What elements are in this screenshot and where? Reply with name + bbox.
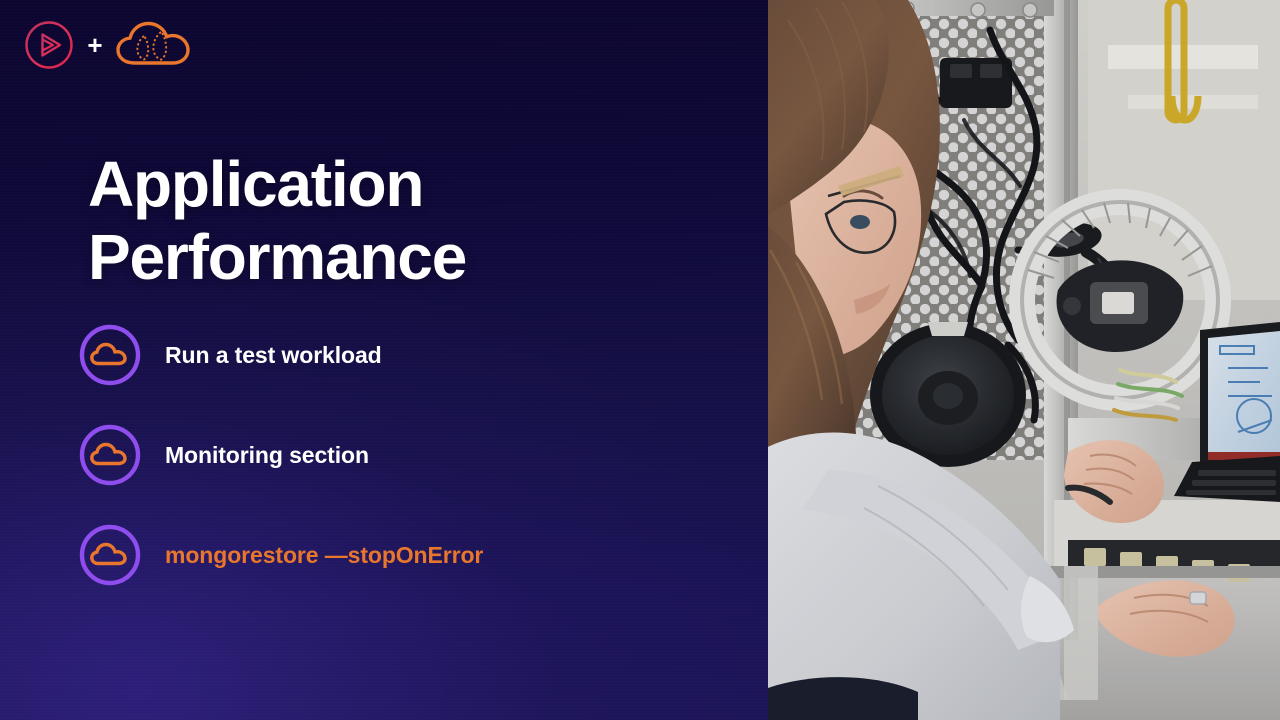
- percona-play-mark-icon: [22, 18, 76, 72]
- page-title-line-1: Application: [88, 148, 648, 221]
- slide-content-panel: + Application Performance: [0, 0, 768, 720]
- engineer-at-test-bench-photo: [768, 0, 1280, 720]
- list-item: Monitoring section: [78, 422, 718, 488]
- list-item: mongorestore —stopOnError: [78, 522, 718, 588]
- page-title: Application Performance: [88, 148, 648, 294]
- cloud-in-ring-icon: [78, 423, 142, 487]
- cloud-in-ring-icon: [78, 323, 142, 387]
- list-item: Run a test workload: [78, 322, 718, 388]
- cloud-in-ring-icon: [78, 523, 142, 587]
- presentation-slide: + Application Performance: [0, 0, 1280, 720]
- mongodb-atlas-cloud-logo-icon: [114, 18, 192, 72]
- bullet-list: Run a test workload Monitoring section: [78, 322, 718, 588]
- list-item-label: Run a test workload: [165, 342, 382, 369]
- plus-separator: +: [76, 18, 114, 72]
- logo-bar: +: [22, 18, 192, 72]
- list-item-label: Monitoring section: [165, 442, 369, 469]
- list-item-label: mongorestore —stopOnError: [165, 542, 483, 569]
- page-title-line-2: Performance: [88, 221, 648, 294]
